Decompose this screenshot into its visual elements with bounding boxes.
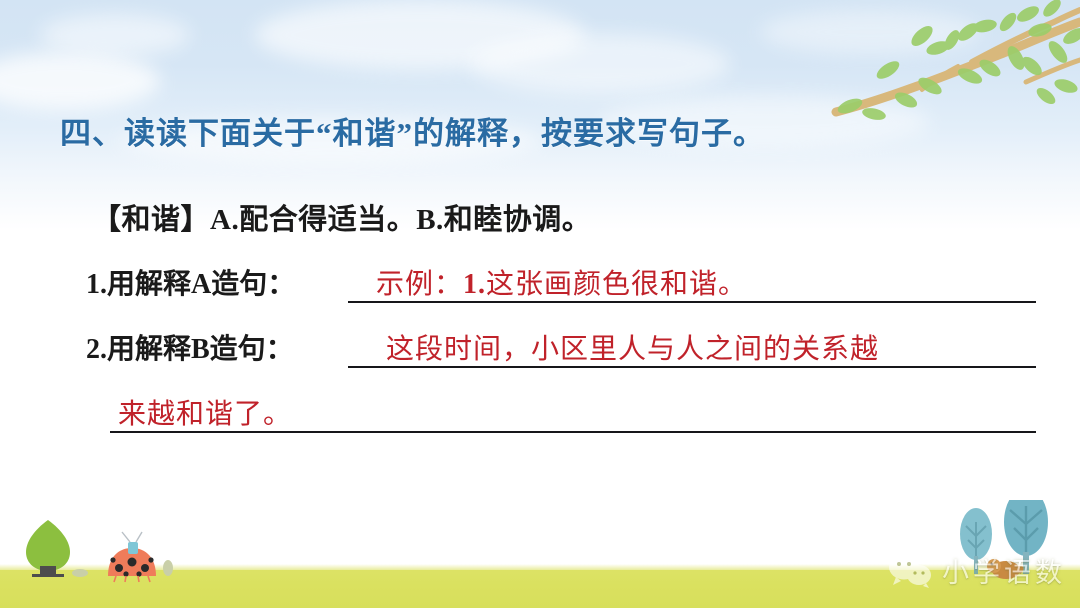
ladybug-icon [108,532,156,582]
slide-canvas: 四、读读下面关于“和谐”的解释，按要求写句子。 【和谐】A.配合得适当。B.和睦… [0,0,1080,608]
answer-underline-1 [348,301,1036,303]
question-prompt-2: 2.用解释B造句： [86,327,294,367]
answer-text-1: 示例：1.这张画颜色很和谐。 [376,262,747,302]
watermark: 小学语数 [888,551,1066,590]
answer-emphasis-1: 1. [463,269,486,300]
bottom-left-decoration [18,514,218,584]
wechat-logo-icon [888,554,932,588]
answer-underline-3 [110,431,1036,433]
answer-text-2: 这段时间，小区里人与人之间的关系越 [386,327,879,367]
answer-body-1: 这张画颜色很和谐。 [486,269,747,300]
answer-prefix-1: 示例： [376,269,463,300]
question-prompt-1: 1.用解释A造句： [86,262,295,302]
page-title: 四、读读下面关于“和谐”的解释，按要求写句子。 [60,108,765,153]
bush-icon [26,520,70,577]
answer-underline-2 [348,366,1036,368]
watermark-text: 小学语数 [942,551,1066,590]
word-definition: 【和谐】A.配合得适当。B.和睦协调。 [92,196,591,238]
answer-text-3: 来越和谐了。 [118,392,292,432]
